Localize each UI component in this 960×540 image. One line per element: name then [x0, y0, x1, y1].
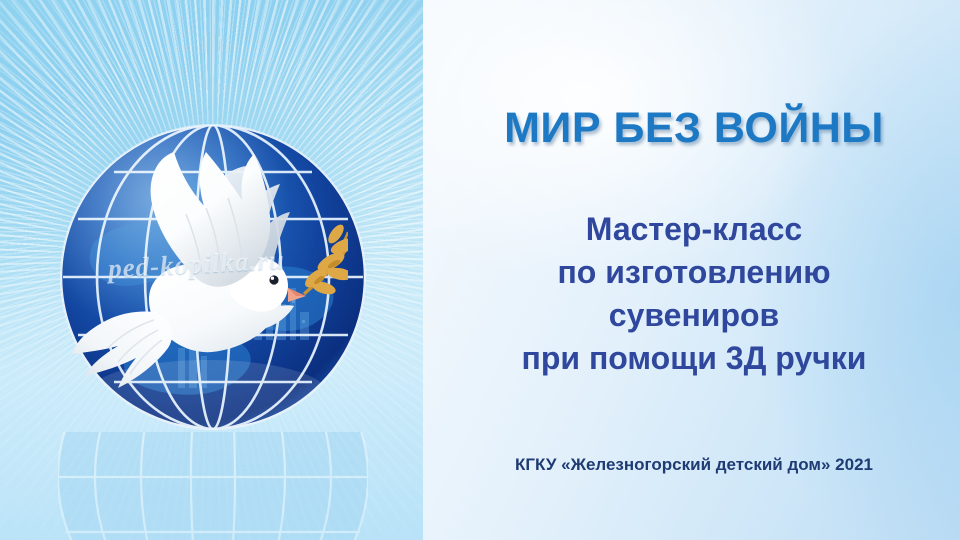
subtitle-line-3: сувениров: [440, 294, 948, 337]
slide-title: МИР БЕЗ ВОЙНЫ: [440, 104, 948, 153]
presentation-title-slide: ped-kopilka.ru МИР БЕЗ ВОЙНЫ Мастер-клас…: [0, 0, 960, 540]
illustration-panel: ped-kopilka.ru: [0, 0, 423, 540]
olive-branch-icon: [302, 222, 348, 297]
subtitle-line-4: при помощи 3Д ручки: [440, 337, 948, 380]
slide-subtitle: Мастер-класс по изготовлению сувениров п…: [440, 208, 948, 380]
subtitle-line-2: по изготовлению: [440, 251, 948, 294]
dove-icon: [48, 128, 348, 418]
subtitle-line-1: Мастер-класс: [440, 208, 948, 251]
slide-footer-credit: КГКУ «Железногорский детский дом» 2021: [440, 455, 948, 475]
text-content-area: МИР БЕЗ ВОЙНЫ Мастер-класс по изготовлен…: [440, 0, 948, 540]
